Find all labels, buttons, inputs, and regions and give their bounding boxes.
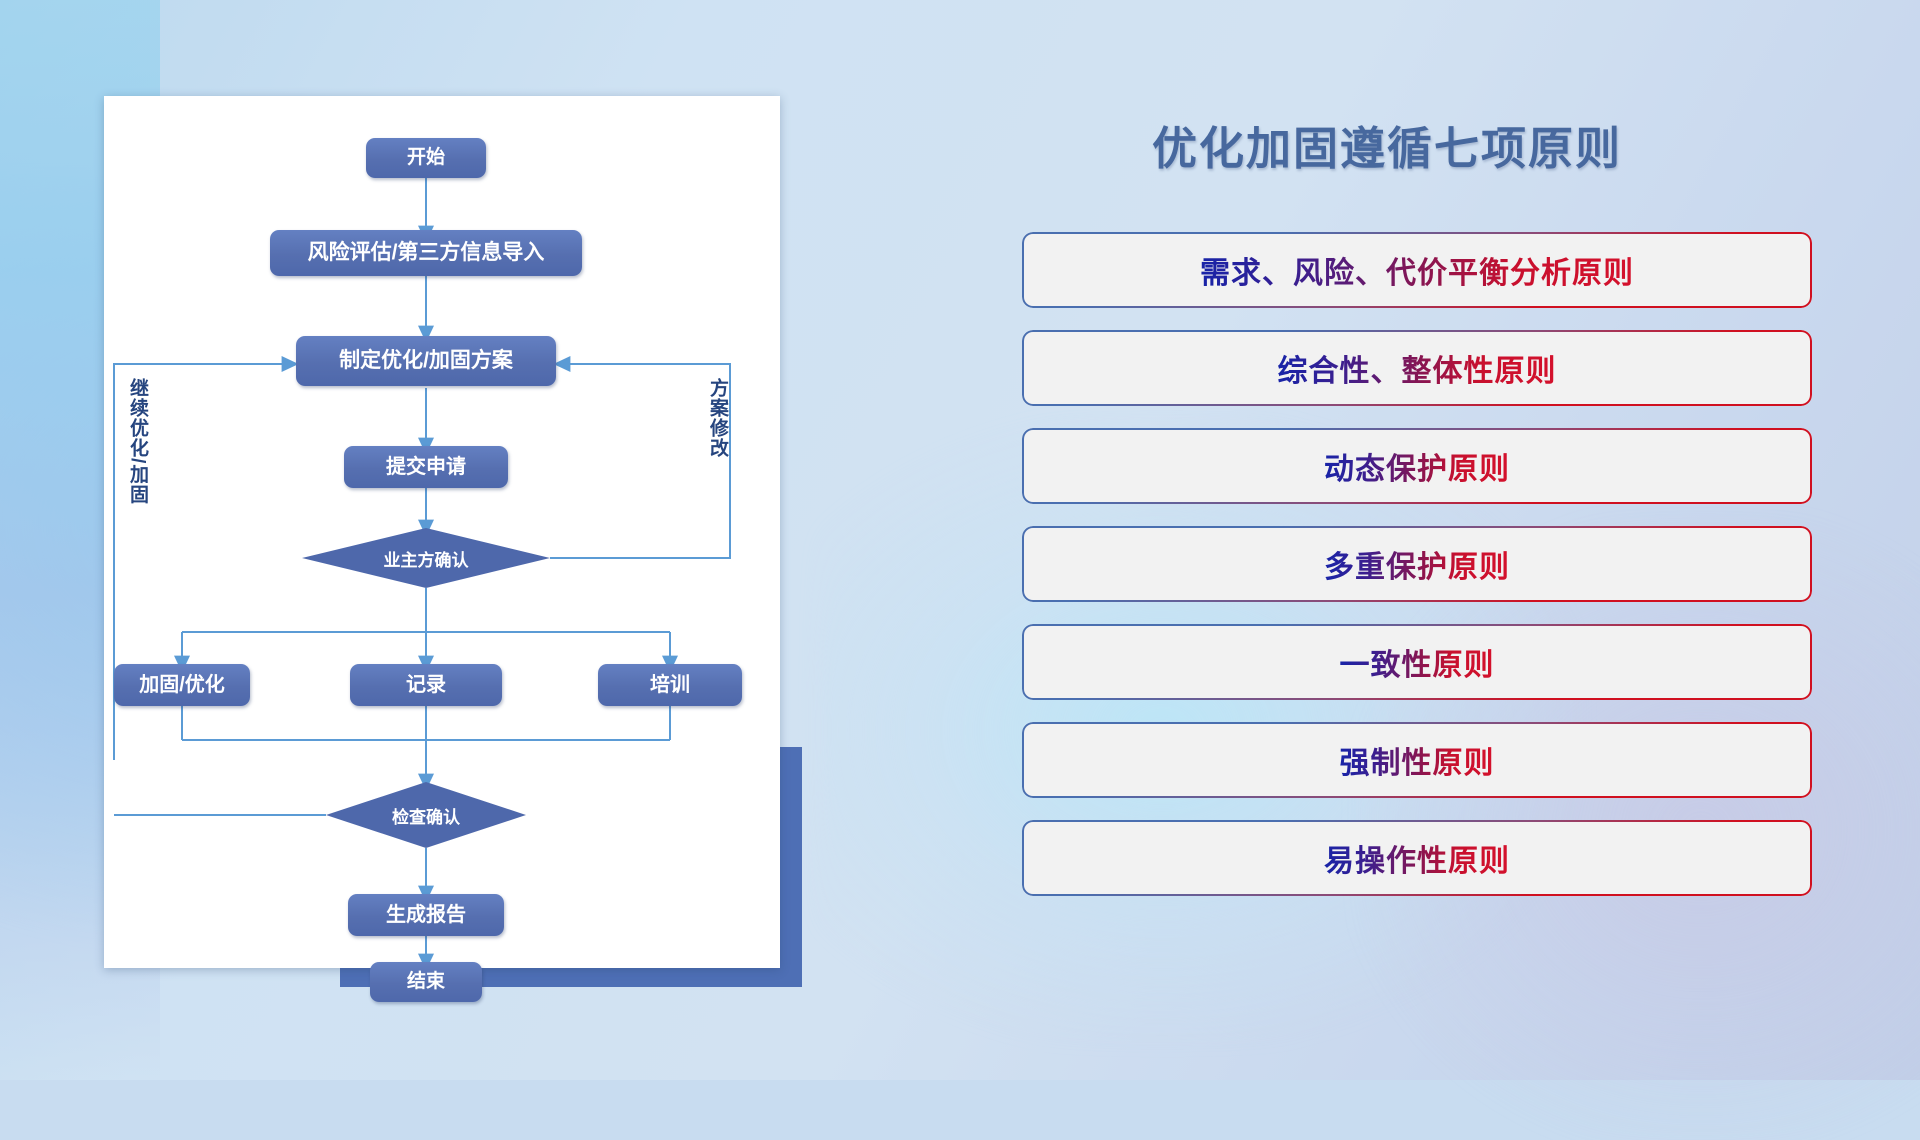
flow-node-label: 加固/优化	[139, 674, 225, 696]
principle-label: 多重保护原则	[1324, 542, 1510, 586]
flow-node-label: 生成报告	[386, 904, 466, 926]
principle-item[interactable]: 需求、风险、代价平衡分析原则	[1022, 232, 1812, 308]
principle-item[interactable]: 多重保护原则	[1022, 526, 1812, 602]
flow-node-plan[interactable]: 制定优化/加固方案	[296, 336, 556, 386]
principle-item[interactable]: 一致性原则	[1022, 624, 1812, 700]
flow-node-label: 提交申请	[386, 456, 466, 478]
flow-node-reinforce-optimize[interactable]: 加固/优化	[114, 664, 250, 706]
principle-label: 一致性原则	[1340, 640, 1495, 684]
flow-node-end[interactable]: 结束	[370, 962, 482, 1002]
principles-list: 需求、风险、代价平衡分析原则 综合性、整体性原则 动态保护原则 多重保护原则 一…	[1022, 232, 1812, 918]
flow-node-label: 记录	[406, 674, 446, 696]
flow-node-label: 培训	[650, 674, 690, 696]
principle-item[interactable]: 易操作性原则	[1022, 820, 1812, 896]
principle-item[interactable]: 强制性原则	[1022, 722, 1812, 798]
flow-node-risk-assessment[interactable]: 风险评估/第三方信息导入	[270, 230, 582, 276]
principle-label: 需求、风险、代价平衡分析原则	[1200, 248, 1634, 292]
flow-node-record[interactable]: 记录	[350, 664, 502, 706]
flowchart-card: 开始 风险评估/第三方信息导入 制定优化/加固方案 提交申请 业主方确认 加固/…	[104, 96, 780, 968]
flow-node-generate-report[interactable]: 生成报告	[348, 894, 504, 936]
principle-item[interactable]: 综合性、整体性原则	[1022, 330, 1812, 406]
principle-label: 动态保护原则	[1324, 444, 1510, 488]
flow-node-label: 结束	[407, 972, 445, 993]
flow-node-start[interactable]: 开始	[366, 138, 486, 178]
principle-item[interactable]: 动态保护原则	[1022, 428, 1812, 504]
principle-label: 综合性、整体性原则	[1278, 346, 1557, 390]
flow-node-label: 风险评估/第三方信息导入	[308, 241, 545, 264]
flow-node-label: 检查确认	[392, 803, 460, 828]
principles-title: 优化加固遵循七项原则	[1152, 112, 1622, 177]
flow-node-label: 业主方确认	[384, 546, 469, 571]
principle-label: 强制性原则	[1340, 738, 1495, 782]
flow-node-submit-application[interactable]: 提交申请	[344, 446, 508, 488]
flow-node-label: 制定优化/加固方案	[339, 349, 513, 372]
flow-edge-label-continue-optimize: 继续优化/加固	[124, 378, 151, 504]
flow-node-training[interactable]: 培训	[598, 664, 742, 706]
flow-edge-label-plan-revision: 方案修改	[704, 378, 731, 458]
flow-node-label: 开始	[407, 148, 445, 169]
principle-label: 易操作性原则	[1324, 836, 1510, 880]
